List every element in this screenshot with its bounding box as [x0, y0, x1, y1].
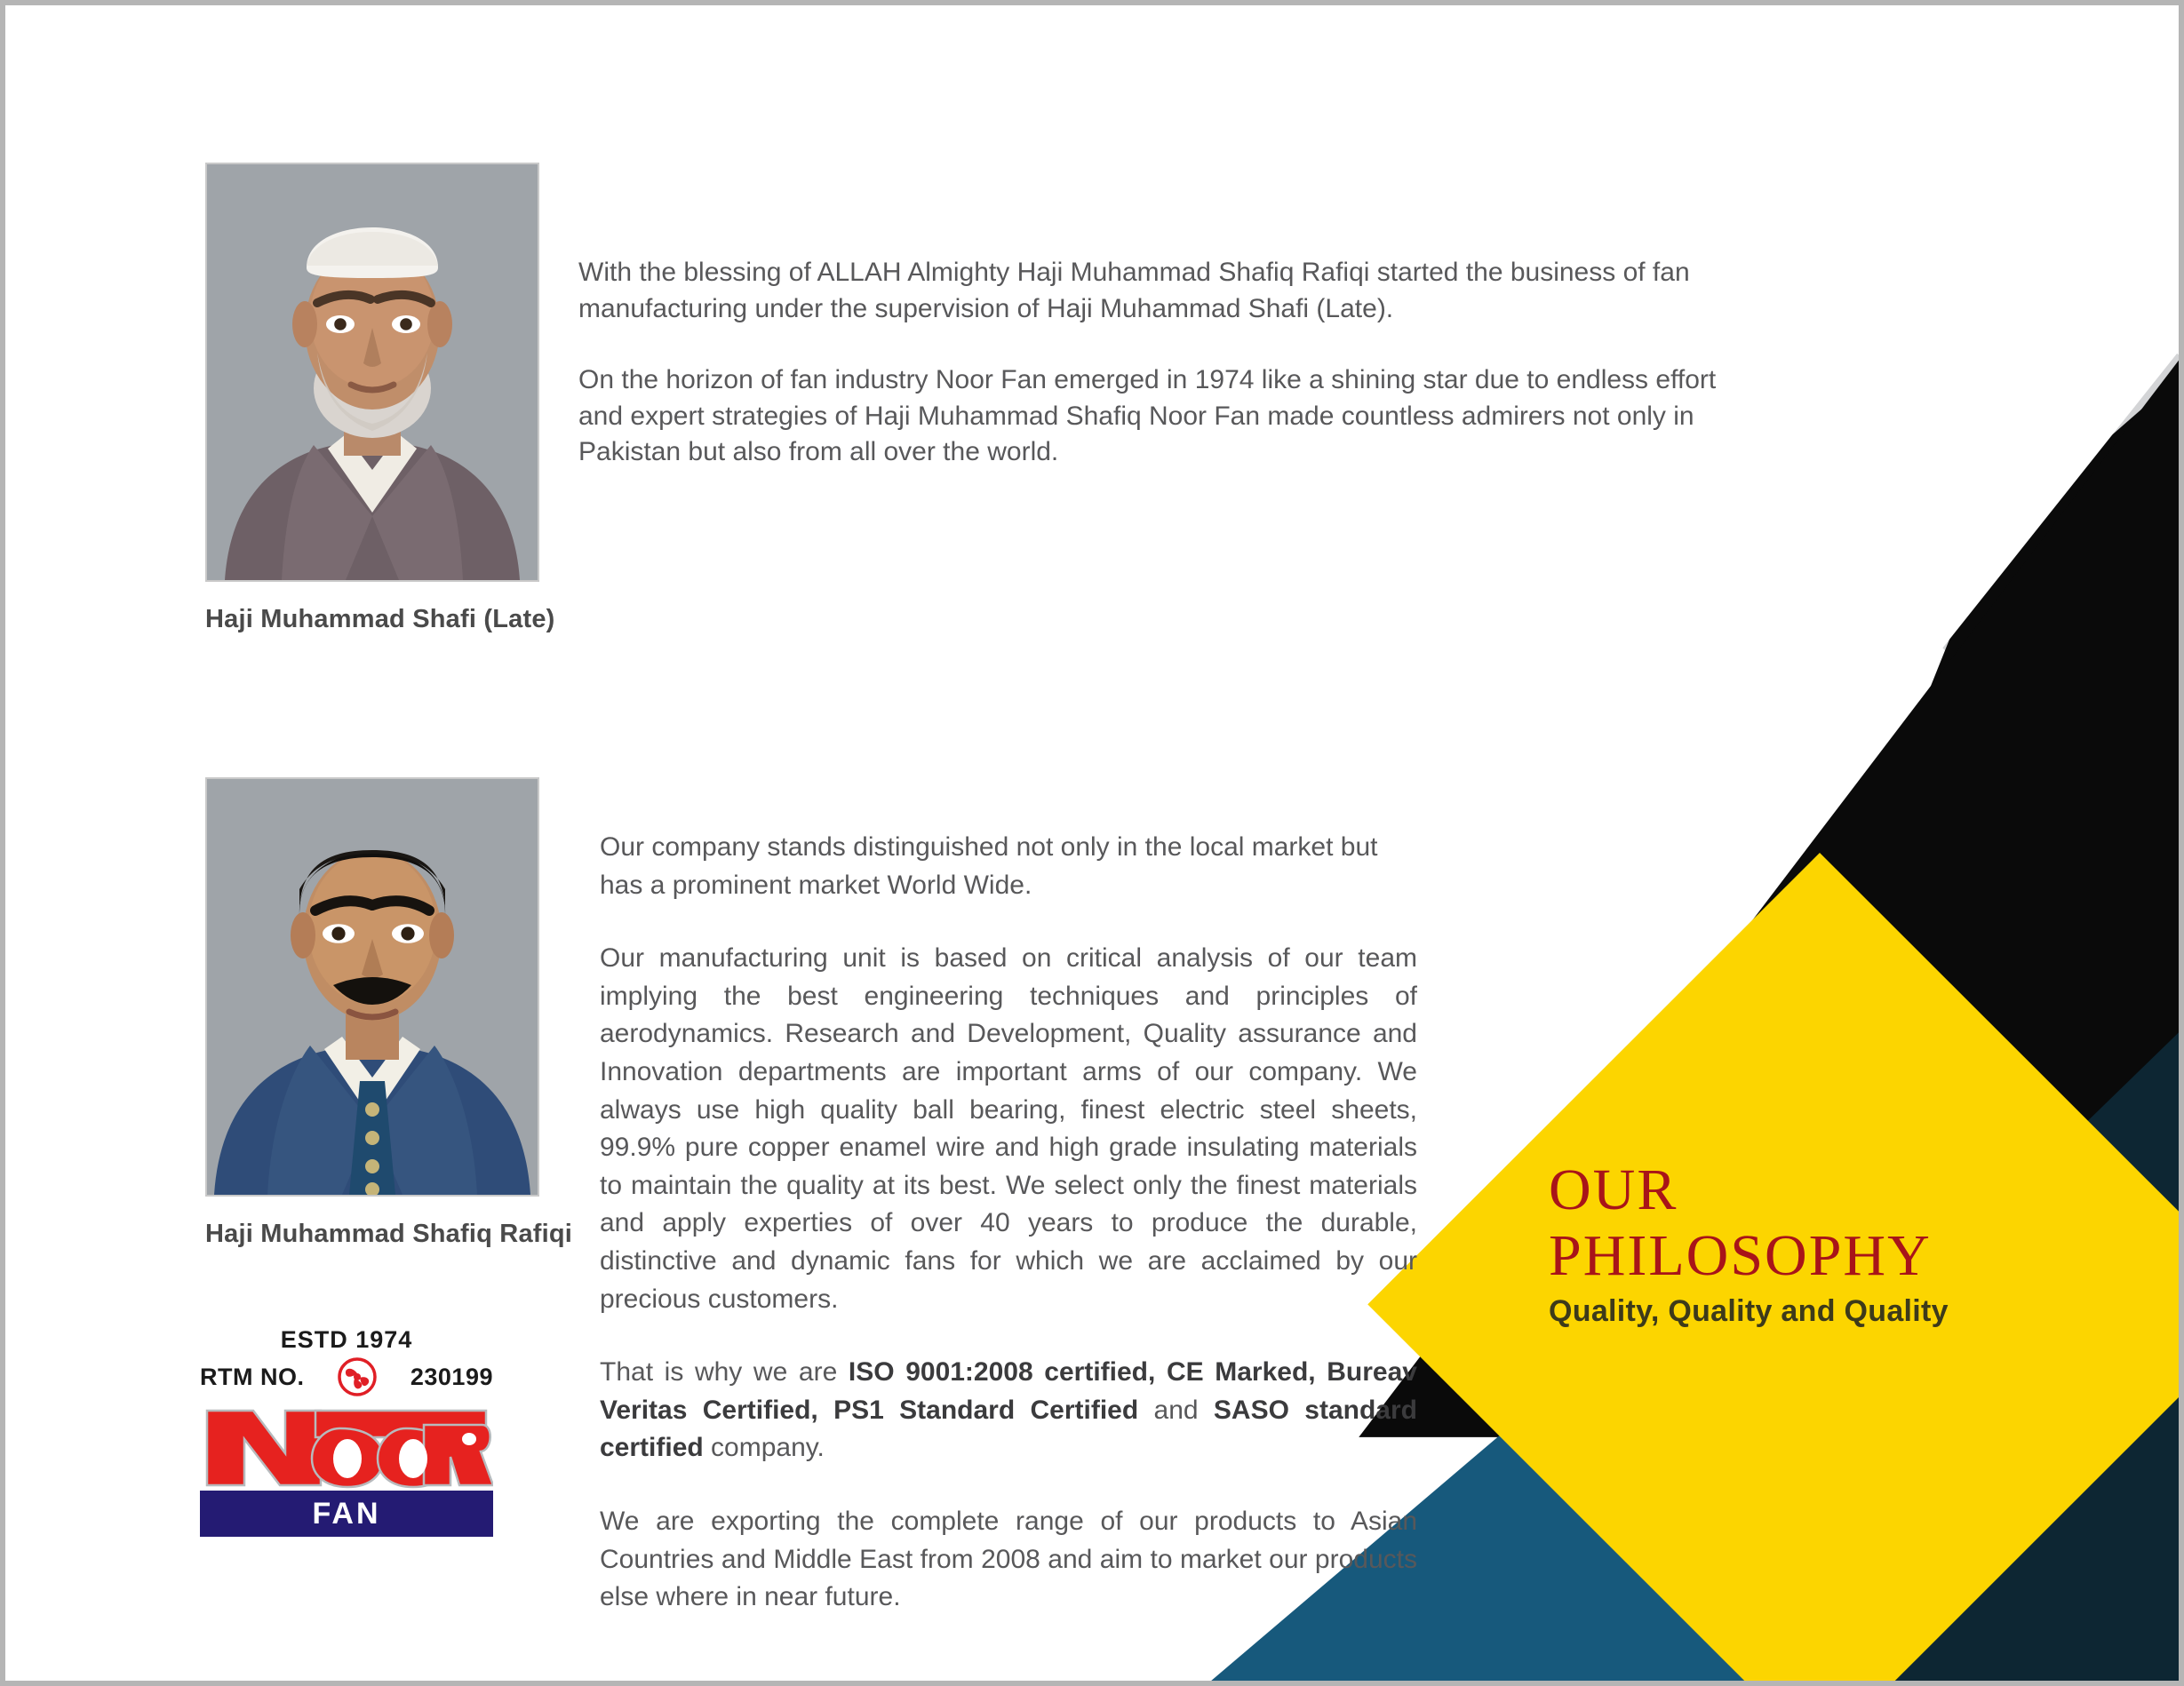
portrait-photo-rafiqi [205, 777, 539, 1197]
noor-fan-logo: ESTD 1974 RTM NO. 230199 [200, 1326, 493, 1537]
portrait-photo-shafi [205, 163, 539, 582]
portrait-caption-rafiqi: Haji Muhammad Shafiq Rafiqi [205, 1220, 572, 1249]
about-paragraph-1: Our company stands distinguished not onl… [600, 829, 1417, 904]
logo-estd-text: ESTD 1974 [200, 1326, 493, 1354]
profile-block-founder-shafi: Haji Muhammad Shafi (Late) [205, 163, 555, 634]
philosophy-title-line-1: OUR [1549, 1157, 2046, 1223]
about-paragraph-4: We are exporting the complete range of o… [600, 1503, 1417, 1617]
gray-diamond-shape [1713, 163, 2181, 737]
brochure-page: Haji Muhammad Shafi (Late) [0, 0, 2184, 1686]
philosophy-title-line-2: PHILOSOPHY [1549, 1223, 2046, 1289]
cert-lead: That is why we are [600, 1357, 849, 1387]
fan-blade-roundel-icon [338, 1357, 377, 1396]
profile-block-founder-rafiqi: Haji Muhammad Shafiq Rafiqi [205, 777, 572, 1249]
intro-copy: With the blessing of ALLAH Almighty Haji… [578, 255, 1734, 471]
logo-wordmark-noor [200, 1398, 493, 1491]
portrait-caption-shafi: Haji Muhammad Shafi (Late) [205, 605, 555, 634]
logo-rtm-number: 230199 [410, 1364, 493, 1391]
about-copy: Our company stands distinguished not onl… [600, 829, 1417, 1617]
logo-rtm-label: RTM NO. [200, 1364, 305, 1391]
intro-paragraph-2: On the horizon of fan industry Noor Fan … [578, 362, 1734, 471]
philosophy-tagline: Quality, Quality and Quality [1549, 1294, 2046, 1329]
intro-paragraph-1: With the blessing of ALLAH Almighty Haji… [578, 255, 1734, 327]
cert-tail: company. [704, 1433, 825, 1462]
dark-navy-block [1510, 1030, 2181, 1683]
cert-conjunction: and [1138, 1396, 1214, 1425]
about-paragraph-3: That is why we are ISO 9001:2008 certifi… [600, 1354, 1417, 1467]
philosophy-callout: OUR PHILOSOPHY Quality, Quality and Qual… [1549, 1157, 2046, 1329]
logo-fan-bar: FAN [200, 1491, 493, 1537]
about-paragraph-2: Our manufacturing unit is based on criti… [600, 940, 1417, 1318]
logo-rtm-row: RTM NO. 230199 [200, 1357, 493, 1396]
logo-fan-text: FAN [313, 1497, 381, 1531]
